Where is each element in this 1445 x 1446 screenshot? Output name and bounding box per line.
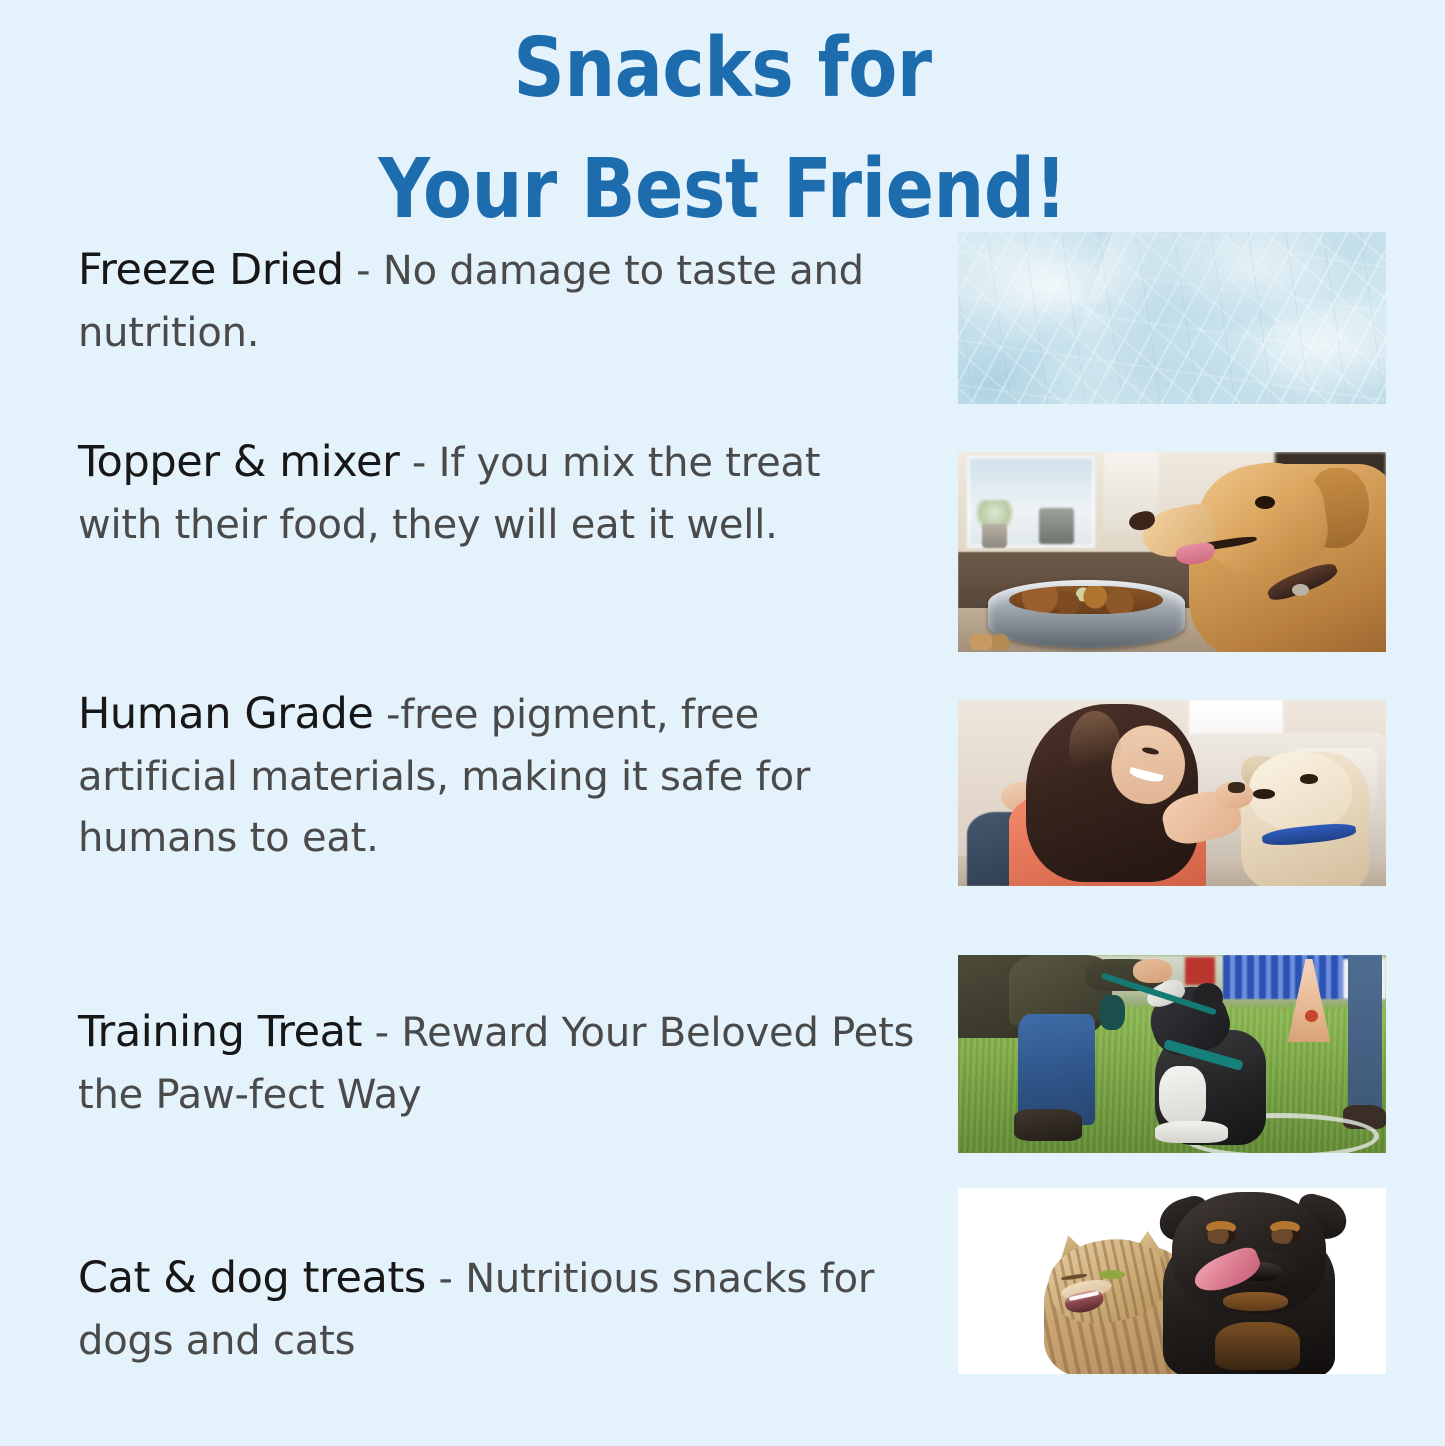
woman-feeding-puppy-photo: [958, 700, 1386, 886]
feature-item-topper-mixer: Topper & mixer - If you mix the treat wi…: [78, 430, 916, 556]
page-title: Snacks for Your Best Friend!: [0, 8, 1445, 251]
feature-item-training-treat: Training Treat - Reward Your Beloved Pet…: [78, 1000, 916, 1126]
dog-training-grass-photo: [958, 955, 1386, 1153]
golden-retriever-food-bowl-photo: [958, 452, 1386, 652]
feature-term: Topper & mixer: [78, 437, 399, 487]
feature-term: Human Grade: [78, 689, 373, 739]
feature-term: Freeze Dried: [78, 245, 344, 295]
title-line-1: Snacks for: [94, 8, 1351, 129]
feature-item-cat-dog-treats: Cat & dog treats - Nutritious snacks for…: [78, 1246, 916, 1372]
feature-term: Training Treat: [78, 1007, 362, 1057]
cat-and-dog-photo: [958, 1188, 1386, 1374]
infographic-page: Snacks for Your Best Friend! Freeze Drie…: [0, 0, 1445, 1446]
feature-item-freeze-dried: Freeze Dried - No damage to taste and nu…: [78, 238, 916, 364]
feature-term: Cat & dog treats: [78, 1253, 426, 1303]
ice-texture-photo: [958, 232, 1386, 404]
feature-item-human-grade: Human Grade -free pigment, free artifici…: [78, 682, 916, 869]
